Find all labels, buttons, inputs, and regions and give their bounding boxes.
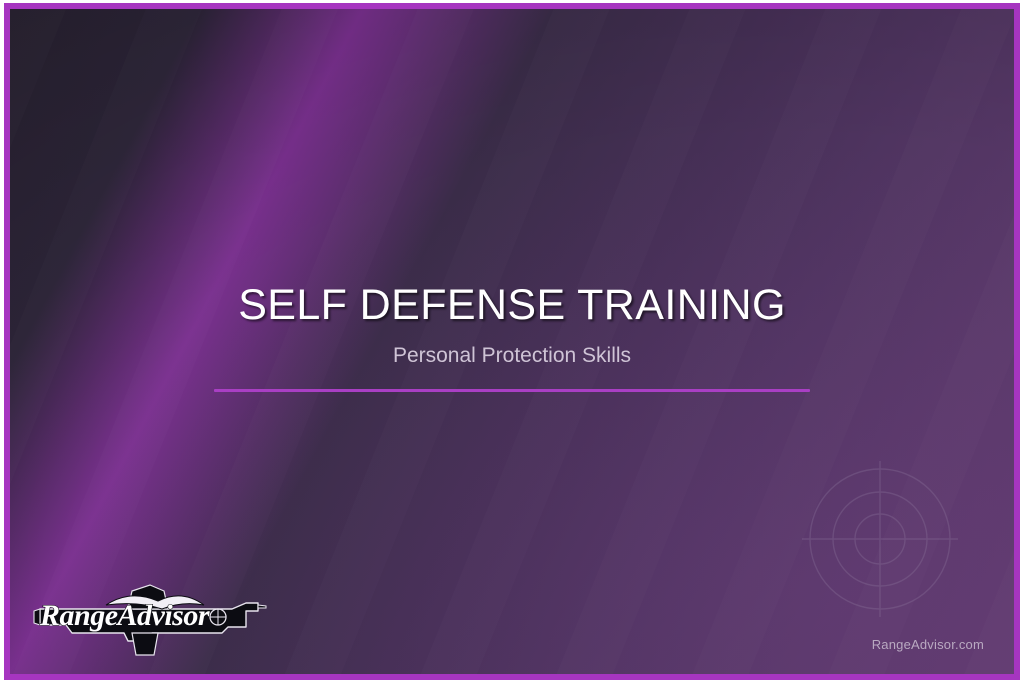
slide-background: SELF DEFENSE TRAINING Personal Protectio… <box>10 9 1014 674</box>
title-block: SELF DEFENSE TRAINING Personal Protectio… <box>10 281 1014 392</box>
title-divider-rule <box>214 389 810 392</box>
page-title: SELF DEFENSE TRAINING <box>10 281 1014 329</box>
brand-logo[interactable]: RangeAdvisor <box>32 575 268 657</box>
crosshair-target-icon <box>800 459 960 619</box>
slide-canvas: SELF DEFENSE TRAINING Personal Protectio… <box>0 0 1024 683</box>
site-watermark: RangeAdvisor.com <box>872 637 984 652</box>
brand-wordmark: RangeAdvisor <box>39 599 210 632</box>
page-subtitle: Personal Protection Skills <box>10 343 1014 368</box>
